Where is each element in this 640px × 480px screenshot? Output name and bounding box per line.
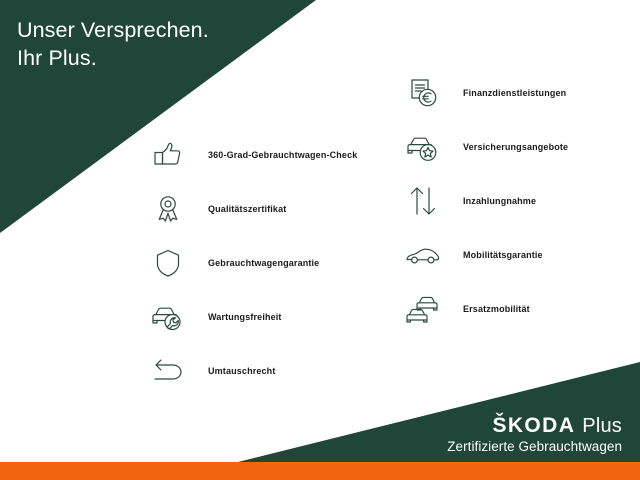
list-item-label: 360-Grad-Gebrauchtwagen-Check: [208, 150, 357, 160]
feature-list-right: Finanzdienstleistungen Versicherungsange…: [400, 66, 568, 336]
promo-banner: Unser Versprechen. Ihr Plus. 360-Grad-Ge…: [0, 0, 640, 480]
logo-wordmark: ŠKODA Plus: [447, 414, 622, 438]
orange-stripe-bottom: [0, 462, 640, 480]
list-item: Umtauschrecht: [145, 344, 357, 398]
list-item-label: Gebrauchtwagengarantie: [208, 258, 319, 268]
car-wrench-icon: [145, 294, 191, 340]
up-down-arrows-icon: [400, 178, 446, 224]
return-arrow-icon: [145, 348, 191, 394]
list-item: 360-Grad-Gebrauchtwagen-Check: [145, 128, 357, 182]
page-title: Unser Versprechen. Ihr Plus.: [17, 16, 209, 72]
list-item: Qualitätszertifikat: [145, 182, 357, 236]
two-cars-icon: [400, 286, 446, 332]
list-item: Wartungsfreiheit: [145, 290, 357, 344]
list-item-label: Mobilitätsgarantie: [463, 250, 543, 260]
award-rosette-icon: [145, 186, 191, 232]
list-item-label: Versicherungsangebote: [463, 142, 568, 152]
thumbs-up-icon: [145, 132, 191, 178]
list-item: Versicherungsangebote: [400, 120, 568, 174]
list-item: Ersatzmobilität: [400, 282, 568, 336]
list-item: Inzahlungnahme: [400, 174, 568, 228]
car-star-icon: [400, 124, 446, 170]
shield-icon: [145, 240, 191, 286]
list-item: Gebrauchtwagengarantie: [145, 236, 357, 290]
list-item-label: Inzahlungnahme: [463, 196, 536, 206]
list-item: Mobilitätsgarantie: [400, 228, 568, 282]
list-item-label: Umtauschrecht: [208, 366, 275, 376]
list-item-label: Finanzdienstleistungen: [463, 88, 566, 98]
car-side-icon: [400, 232, 446, 278]
feature-list-left: 360-Grad-Gebrauchtwagen-Check Qualitätsz…: [145, 128, 357, 398]
list-item: Finanzdienstleistungen: [400, 66, 568, 120]
list-item-label: Ersatzmobilität: [463, 304, 530, 314]
logo-subtitle: Zertifizierte Gebrauchtwagen: [447, 439, 622, 454]
headline-line-1: Unser Versprechen.: [17, 16, 209, 44]
headline-line-2: Ihr Plus.: [17, 44, 209, 72]
list-item-label: Qualitätszertifikat: [208, 204, 286, 214]
logo-brand-text: ŠKODA: [492, 414, 575, 438]
list-item-label: Wartungsfreiheit: [208, 312, 282, 322]
logo-suffix-text: Plus: [582, 415, 622, 438]
skoda-plus-logo: ŠKODA Plus Zertifizierte Gebrauchtwagen: [447, 414, 622, 454]
document-euro-icon: [400, 70, 446, 116]
